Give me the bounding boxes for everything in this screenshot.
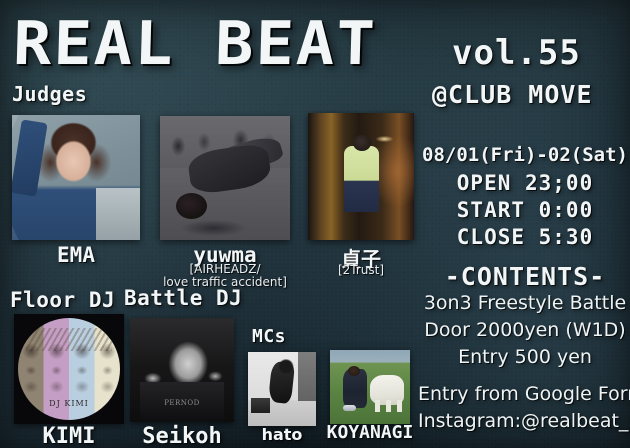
photo-detail-face [18, 332, 44, 405]
judge-affiliation-yuwma-line1: [AIRHEADZ/ [145, 262, 305, 276]
judge-photo-ema [12, 115, 140, 240]
photo-content-disc: DJ KIMI [18, 318, 120, 420]
photo-detail-ledge [96, 188, 140, 241]
dj-name-kimi: KIMI [10, 424, 128, 448]
volume-number: vol.55 [452, 36, 581, 70]
photo-detail-face [44, 332, 70, 405]
entry-form-note: Entry from Google Form [418, 383, 630, 405]
dj-photo-seikoh: PERNOD [130, 318, 234, 422]
photo-detail-box [251, 398, 270, 413]
battle-dj-section-label: Battle DJ [124, 288, 242, 309]
photo-detail-head [348, 366, 360, 376]
floor-dj-section-label: Floor DJ [10, 290, 115, 311]
page-title: REAL BEAT [12, 14, 377, 74]
photo-detail-shadow [181, 220, 246, 236]
judge-photo-yuwma [160, 116, 290, 240]
dj-name-seikoh: Seikoh [126, 424, 238, 448]
mc-name-koyanagi: KOYANAGI [322, 422, 418, 443]
photo-detail-goat-leg [375, 400, 380, 412]
contents-line-door-price: Door 2000yen (W1D) [418, 319, 630, 341]
photo-detail-lamp [376, 136, 393, 142]
judge-photo-sadako [308, 113, 414, 240]
photo-detail-shoe [343, 405, 356, 412]
start-time: START 0:00 [420, 198, 630, 222]
mc-photo-koyanagi [330, 350, 410, 424]
photo-detail-face [95, 332, 121, 405]
judges-section-label: Judges [12, 84, 87, 104]
photo-detail-head [176, 193, 207, 219]
judge-name-ema: EMA [12, 243, 140, 267]
artwork-caption: DJ KIMI [18, 399, 120, 408]
contents-heading: -CONTENTS- [420, 262, 630, 291]
close-time: CLOSE 5:30 [420, 225, 630, 249]
dj-photo-kimi: DJ KIMI [14, 314, 124, 424]
photo-detail-wall [298, 352, 316, 401]
photo-detail-goat-leg [386, 400, 391, 412]
instagram-handle: Instagram:@realbeat_rdc [418, 410, 630, 432]
judge-affiliation-sadako: [2Trust] [308, 263, 414, 277]
photo-detail-figure [344, 146, 379, 212]
contents-line-battle: 3on3 Freestyle Battle [418, 292, 630, 314]
contents-line-entry-price: Entry 500 yen [418, 346, 630, 368]
mc-photo-hato [248, 352, 316, 426]
mc-name-hato: hato [246, 425, 318, 444]
judge-affiliation-yuwma-line2: love traffic accident] [145, 275, 305, 289]
photo-detail-goat-leg [397, 400, 402, 412]
event-flyer: REAL BEAT vol.55 @CLUB MOVE Judges Floor… [0, 0, 630, 448]
photo-detail-head [353, 135, 371, 152]
photo-detail-chest-text: PERNOD [130, 399, 234, 407]
venue-name: @CLUB MOVE [432, 82, 593, 107]
open-time: OPEN 23;00 [420, 171, 630, 195]
event-date: 08/01(Fri)-02(Sat) [420, 144, 630, 166]
photo-detail-face [69, 332, 95, 405]
mcs-section-label: MCs [252, 328, 286, 346]
